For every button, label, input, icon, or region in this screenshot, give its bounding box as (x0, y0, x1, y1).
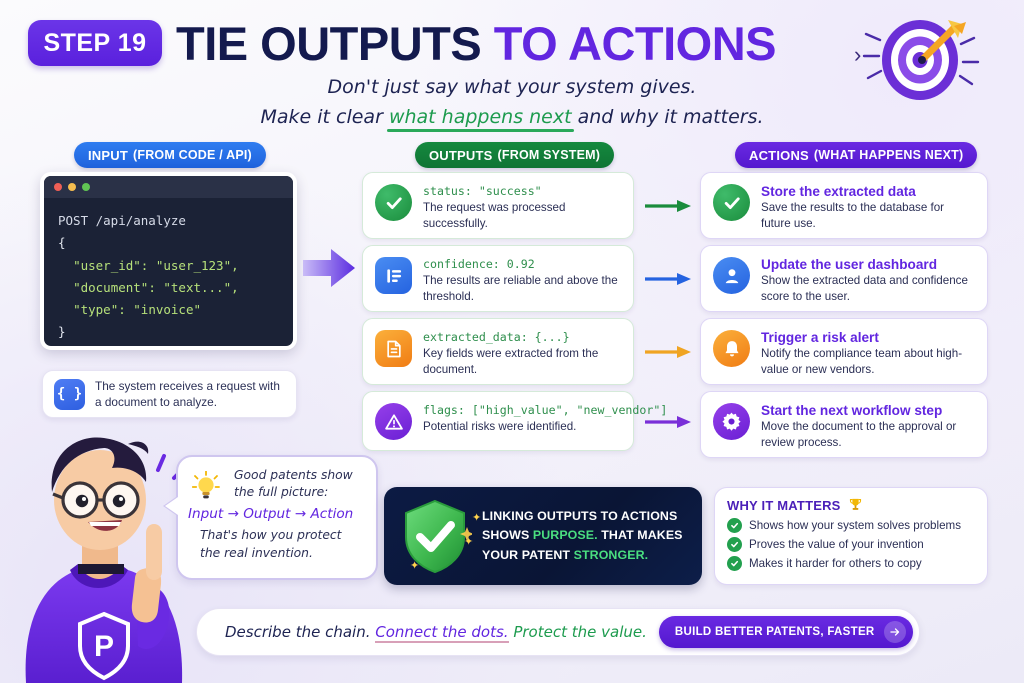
output-card-extracted-data[interactable]: extracted_data: {...} Key fields were ex… (362, 318, 634, 385)
input-note-text: The system receives a request with a doc… (95, 378, 285, 411)
code-line-3-val: : "user_123", (141, 258, 239, 273)
output-desc: The results are reliable and above the t… (423, 273, 621, 305)
why-it-matters-card: WHY IT MATTERS Shows how your system sol… (714, 487, 988, 585)
code-line-5-key: "type" (73, 302, 118, 317)
subtitle-highlight: what happens next (389, 106, 572, 128)
action-title: Start the next workflow step (761, 403, 975, 418)
sparkle-icon: ✦ (472, 511, 481, 524)
braces-icon: { } (54, 379, 85, 410)
subtitle-line-2-b: and why it matters. (572, 106, 764, 128)
connector-arrow-2-icon (645, 272, 693, 286)
output-card-flags[interactable]: flags: ["high_value", "new_vendor"] Pote… (362, 391, 634, 451)
output-desc: The request was processed successfully. (423, 200, 621, 232)
dartboard-target-icon: › (862, 8, 980, 108)
build-better-patents-button[interactable]: BUILD BETTER PATENTS, FASTER (659, 616, 913, 648)
check-circle-icon (375, 184, 412, 221)
step-badge: STEP 19 (28, 20, 162, 66)
title-part-1: TIE OUTPUTS (176, 17, 494, 70)
column-badge-actions: ACTIONS (WHAT HAPPENS NEXT) (735, 142, 977, 168)
action-desc: Move the document to the approval or rev… (761, 419, 975, 451)
bubble-line-3: That's how you protect (200, 527, 364, 544)
title-part-2: TO ACTIONS (494, 17, 776, 70)
action-desc: Show the extracted data and confidence s… (761, 273, 975, 305)
banner-line-3-a: YOUR PATENT (482, 548, 574, 562)
code-line-3-key: "user_id" (73, 258, 141, 273)
banner-line-2-a: SHOWS (482, 528, 533, 542)
connector-arrow-3-icon (645, 345, 693, 359)
list-document-icon (375, 257, 412, 294)
speech-bubble: Good patents show the full picture: Inpu… (176, 455, 378, 580)
code-line-6: } (58, 324, 66, 339)
connector-arrow-4-icon (645, 415, 693, 429)
code-line-1: POST /api/analyze (58, 213, 186, 228)
cta-button-label: BUILD BETTER PATENTS, FASTER (675, 626, 875, 638)
check-circle-icon (727, 537, 742, 552)
cta-text-a: Describe the chain. (225, 623, 375, 641)
user-avatar-icon (713, 257, 750, 294)
why-title-text: WHY IT MATTERS (727, 498, 841, 513)
badge-input-rest: (FROM CODE / API) (133, 148, 252, 162)
badge-outputs-lead: OUTPUTS (429, 148, 493, 163)
bell-alert-icon (713, 330, 750, 367)
bubble-line-4: the real invention. (200, 545, 364, 562)
banner-line-2: SHOWS PURPOSE. THAT MAKES (482, 526, 683, 545)
action-card-update-dashboard[interactable]: Update the user dashboard Show the extra… (700, 245, 988, 312)
trophy-icon (848, 497, 863, 512)
badge-actions-rest: (WHAT HAPPENS NEXT) (814, 148, 963, 162)
cta-text: Describe the chain. Connect the dots. Pr… (225, 623, 647, 641)
code-line-2: { (58, 235, 66, 250)
output-key: extracted_data: {...} (423, 330, 621, 344)
banner-line-2-highlight: PURPOSE. (533, 528, 598, 542)
bubble-line-1: Good patents show (234, 467, 364, 484)
badge-actions-lead: ACTIONS (749, 148, 809, 163)
why-item: Makes it harder for others to copy (727, 556, 975, 571)
lightbulb-icon (192, 471, 220, 501)
code-window: POST /api/analyze { "user_id": "user_123… (40, 172, 297, 350)
action-title: Store the extracted data (761, 184, 975, 199)
infographic-canvas: STEP 19 TIE OUTPUTS TO ACTIONS Don't jus… (0, 0, 1024, 683)
hoodie-logo-letter: P (94, 630, 114, 663)
code-line-4-key: "document" (73, 280, 148, 295)
speech-bubble-tail (165, 497, 178, 515)
why-it-matters-title: WHY IT MATTERS (727, 497, 975, 513)
output-card-status[interactable]: status: "success" The request was proces… (362, 172, 634, 239)
action-card-next-workflow[interactable]: Start the next workflow step Move the do… (700, 391, 988, 458)
why-item-text: Shows how your system solves problems (749, 519, 961, 532)
bubble-flow-text: Input → Output → Action (188, 505, 364, 524)
action-title: Update the user dashboard (761, 257, 975, 272)
input-note: { } The system receives a request with a… (42, 370, 297, 418)
arrow-input-to-outputs-icon (303, 247, 355, 289)
column-badge-input: INPUT (FROM CODE / API) (74, 142, 266, 168)
sparkle-icon: ✦ (410, 559, 419, 572)
connector-arrow-1-icon (645, 199, 693, 213)
key-message-banner: LINKING OUTPUTS TO ACTIONS SHOWS PURPOSE… (384, 487, 702, 585)
check-circle-icon (713, 184, 750, 221)
action-card-store-data[interactable]: Store the extracted data Save the result… (700, 172, 988, 239)
warning-triangle-icon (375, 403, 412, 440)
check-circle-icon (727, 556, 742, 571)
close-dot-icon[interactable] (54, 183, 62, 191)
cta-text-violet: Connect the dots. (375, 623, 508, 643)
why-item: Shows how your system solves problems (727, 518, 975, 533)
page-title: TIE OUTPUTS TO ACTIONS (176, 16, 776, 71)
why-item-text: Proves the value of your invention (749, 538, 924, 551)
code-window-titlebar (44, 176, 293, 198)
cta-bar: Describe the chain. Connect the dots. Pr… (196, 608, 920, 656)
cta-text-green: Protect the value. (509, 623, 647, 641)
code-line-4-val: : "text...", (148, 280, 238, 295)
banner-line-3: YOUR PATENT STRONGER. (482, 546, 683, 565)
mascot-character: P (8, 418, 198, 683)
bubble-line-2: the full picture: (234, 484, 364, 501)
sparkle-icon: ✦ (464, 535, 473, 548)
file-extract-icon (375, 330, 412, 367)
badge-input-lead: INPUT (88, 148, 128, 163)
banner-text: LINKING OUTPUTS TO ACTIONS SHOWS PURPOSE… (482, 507, 683, 565)
badge-outputs-rest: (FROM SYSTEM) (498, 148, 601, 162)
minimize-dot-icon[interactable] (68, 183, 76, 191)
output-key: confidence: 0.92 (423, 257, 621, 271)
maximize-dot-icon[interactable] (82, 183, 90, 191)
action-title: Trigger a risk alert (761, 330, 975, 345)
why-item: Proves the value of your invention (727, 537, 975, 552)
subtitle-line-2-a: Make it clear (260, 106, 388, 128)
output-desc: Potential risks were identified. (423, 419, 667, 435)
banner-line-3-highlight: STRONGER. (574, 548, 649, 562)
why-item-text: Makes it harder for others to copy (749, 557, 922, 570)
action-desc: Save the results to the database for fut… (761, 200, 975, 232)
code-window-body: POST /api/analyze { "user_id": "user_123… (44, 198, 293, 344)
banner-line-2-b: THAT MAKES (598, 528, 683, 542)
arrow-right-icon (884, 621, 906, 643)
output-key: status: "success" (423, 184, 621, 198)
output-desc: Key fields were extracted from the docum… (423, 346, 621, 378)
action-card-risk-alert[interactable]: Trigger a risk alert Notify the complian… (700, 318, 988, 385)
action-desc: Notify the compliance team about high-va… (761, 346, 975, 378)
code-line-5-val: : "invoice" (118, 302, 201, 317)
chevron-right-icon: › (854, 42, 861, 68)
output-card-confidence[interactable]: confidence: 0.92 The results are reliabl… (362, 245, 634, 312)
column-badge-outputs: OUTPUTS (FROM SYSTEM) (415, 142, 614, 168)
check-circle-icon (727, 518, 742, 533)
banner-line-1: LINKING OUTPUTS TO ACTIONS (482, 507, 683, 526)
gear-cog-icon (713, 403, 750, 440)
output-key: flags: ["high_value", "new_vendor"] (423, 403, 667, 417)
